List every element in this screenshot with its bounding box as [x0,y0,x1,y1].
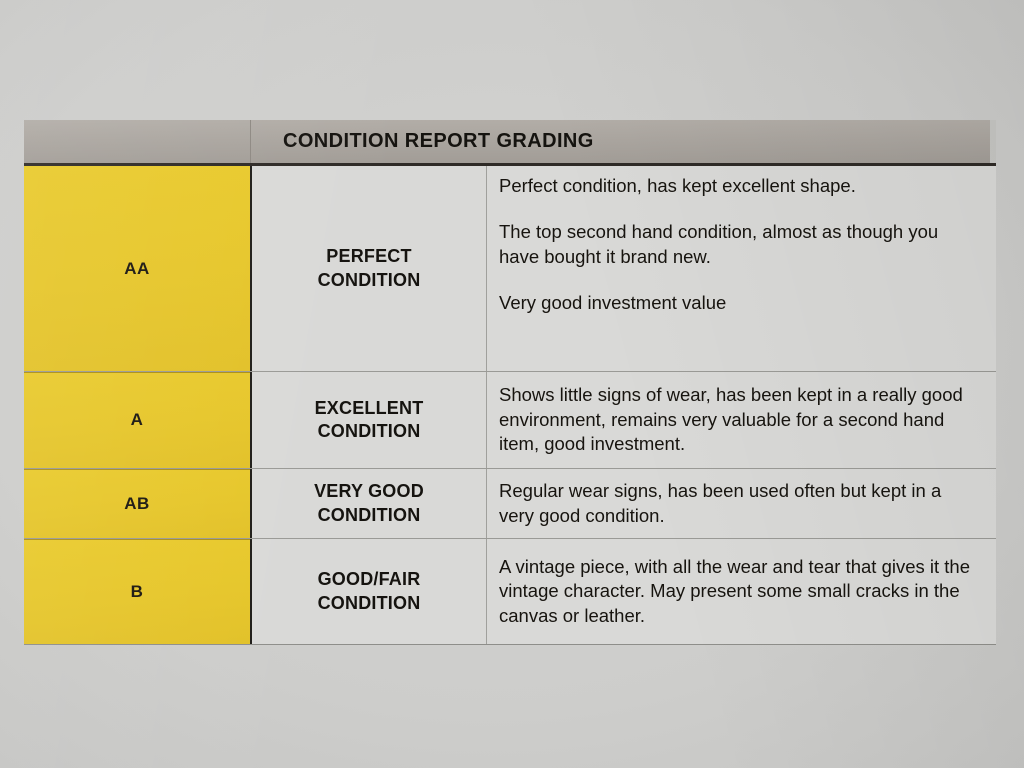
description-paragraph: Very good investment value [499,291,978,315]
table-row: B GOOD/FAIR CONDITION A vintage piece, w… [24,539,996,645]
grade-code-cell: A [24,372,252,468]
condition-name-line-1: VERY GOOD [314,481,424,501]
description-paragraph: A vintage piece, with all the wear and t… [499,555,978,628]
table-row: AB VERY GOOD CONDITION Regular wear sign… [24,469,996,539]
condition-name-line-2: CONDITION [318,593,421,613]
table-row: A EXCELLENT CONDITION Shows little signs… [24,372,996,469]
description-paragraph: The top second hand condition, almost as… [499,220,978,269]
condition-name-line-1: EXCELLENT [315,398,424,418]
condition-name-cell: GOOD/FAIR CONDITION [252,539,487,644]
condition-name-cell: VERY GOOD CONDITION [252,469,487,538]
table-header-grade-spacer [24,120,251,163]
table-header-right-edge [990,120,996,163]
condition-description-cell: Shows little signs of wear, has been kep… [487,372,996,468]
condition-name-cell: PERFECT CONDITION [252,166,487,371]
condition-description-cell: Regular wear signs, has been used often … [487,469,996,538]
grade-code-cell: AB [24,469,252,538]
table-header-row: CONDITION REPORT GRADING [24,120,996,166]
grade-code-cell: B [24,539,252,644]
condition-report-grading-table: CONDITION REPORT GRADING AA PERFECT COND… [24,120,996,645]
description-paragraph: Shows little signs of wear, has been kep… [499,383,978,456]
condition-name-line-2: CONDITION [318,421,421,441]
condition-name-line-1: GOOD/FAIR [318,569,421,589]
description-paragraph: Perfect condition, has kept excellent sh… [499,174,978,198]
page-title: CONDITION REPORT GRADING [251,130,996,153]
condition-name-line-1: PERFECT [326,246,411,266]
table-row: AA PERFECT CONDITION Perfect condition, … [24,166,996,372]
grade-code-cell: AA [24,166,252,371]
condition-name-line-2: CONDITION [318,505,421,525]
condition-name-line-2: CONDITION [318,270,421,290]
condition-description-cell: Perfect condition, has kept excellent sh… [487,166,996,371]
condition-description-cell: A vintage piece, with all the wear and t… [487,539,996,644]
description-paragraph: Regular wear signs, has been used often … [499,479,978,528]
condition-name-cell: EXCELLENT CONDITION [252,372,487,468]
photographed-document-page: CONDITION REPORT GRADING AA PERFECT COND… [0,0,1024,768]
